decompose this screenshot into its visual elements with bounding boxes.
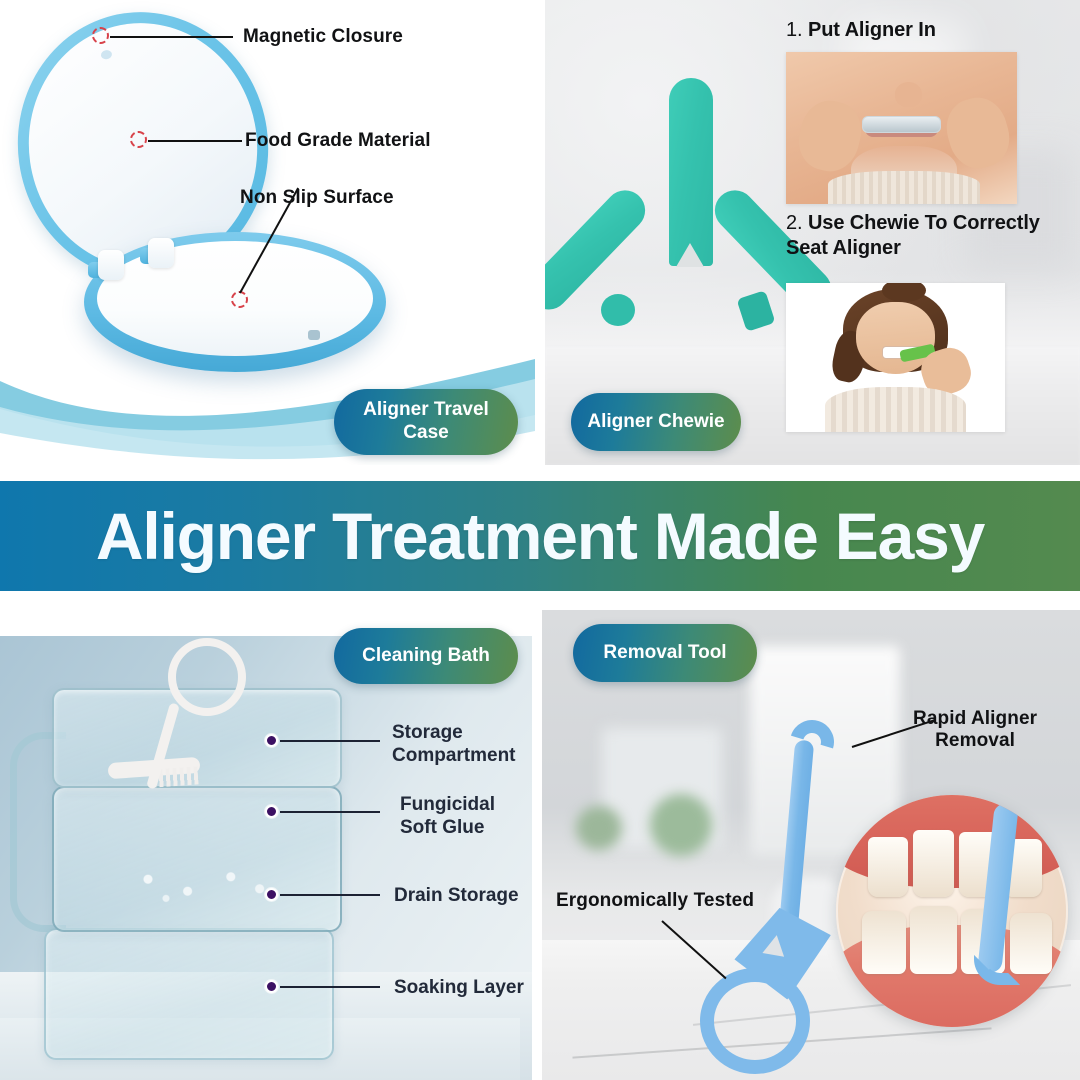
infographic-page: Magnetic Closure Food Grade Material Non… <box>0 0 1080 1080</box>
callout-fungicidal-soft-glue: Fungicidal Soft Glue <box>400 794 495 840</box>
removal-tool-finger-ring <box>700 968 810 1074</box>
photo1-sweater <box>828 171 980 204</box>
tooth-lower-1 <box>862 911 906 974</box>
marker-soaking-layer <box>265 980 278 993</box>
target-marker-non-slip <box>231 291 248 308</box>
callout-fungicidal-line1: Fungicidal <box>400 794 495 815</box>
badge-aligner-travel-case[interactable]: Aligner Travel Case <box>334 389 518 455</box>
badge-aligner-chewie[interactable]: Aligner Chewie <box>571 393 741 451</box>
step-1-text: Put Aligner In <box>808 19 936 41</box>
callout-food-grade-material: Food Grade Material <box>245 130 431 152</box>
callout-drain-storage: Drain Storage <box>394 885 519 908</box>
chewie-knob <box>601 294 635 326</box>
background-plant-right <box>650 794 712 856</box>
hinge-tab-left <box>98 250 124 280</box>
callout-storage-compartment-line1: Storage <box>392 722 463 743</box>
leader-drain-storage <box>280 894 380 896</box>
leader-line-food-grade <box>148 140 242 142</box>
photo-use-chewie <box>786 283 1005 432</box>
leader-fungicidal-soft-glue <box>280 811 380 813</box>
callout-fungicidal-line2: Soft Glue <box>400 817 484 838</box>
callout-storage-compartment-line2: Compartment <box>392 745 516 766</box>
leader-soaking-layer <box>280 986 380 988</box>
callout-soaking-layer: Soaking Layer <box>394 977 524 1000</box>
leader-storage-compartment <box>280 740 380 742</box>
chewie-triangle-hole <box>676 243 704 267</box>
chewie-product-illustration <box>573 78 803 363</box>
hinge-tab-right <box>148 238 174 268</box>
callout-non-slip-surface: Non Slip Surface <box>240 187 394 209</box>
target-marker-magnetic-closure <box>92 27 109 44</box>
step-2-label: 2. Use Chewie To Correctly Seat Aligner <box>786 211 1044 261</box>
photo-put-aligner-in <box>786 52 1017 204</box>
chewie-stem <box>669 78 713 266</box>
tooth-upper-2 <box>913 830 955 897</box>
marker-fungicidal-soft-glue <box>265 805 278 818</box>
chewie-arm-left <box>545 182 653 318</box>
badge-removal-tool[interactable]: Removal Tool <box>573 624 757 682</box>
step-2-text: Use Chewie To Correctly Seat Aligner <box>786 212 1040 259</box>
target-marker-food-grade <box>130 131 147 148</box>
leader-line-magnetic-closure <box>110 36 233 38</box>
callout-rapid-aligner-removal: Rapid Aligner Removal <box>913 708 1037 753</box>
marker-drain-storage <box>265 888 278 901</box>
panel-aligner-travel-case: Magnetic Closure Food Grade Material Non… <box>0 0 535 465</box>
marker-storage-compartment <box>265 734 278 747</box>
background-plant-left <box>576 806 622 850</box>
photo1-aligner <box>862 116 941 133</box>
main-banner: Aligner Treatment Made Easy <box>0 481 1080 591</box>
bath-soaking-layer-box <box>44 928 334 1060</box>
step-1-label: 1. Put Aligner In <box>786 18 936 43</box>
bath-hook-ring <box>168 638 246 716</box>
step-2-number: 2. <box>786 212 802 234</box>
photo2-sweater <box>825 387 965 432</box>
badge-cleaning-bath[interactable]: Cleaning Bath <box>334 628 518 684</box>
step-1-number: 1. <box>786 19 802 41</box>
removal-tool-triangle-hole <box>762 933 787 957</box>
bath-drain-storage-box <box>52 786 342 932</box>
chewie-notch <box>736 290 775 332</box>
tooth-lower-2 <box>910 906 956 973</box>
callout-storage-compartment: Storage Compartment <box>392 722 516 768</box>
callout-rapid-line1: Rapid Aligner <box>913 708 1037 729</box>
photo1-nose <box>895 82 923 106</box>
callout-magnetic-closure: Magnetic Closure <box>243 26 403 48</box>
tooth-upper-1 <box>868 837 907 897</box>
banner-title: Aligner Treatment Made Easy <box>96 498 984 574</box>
case-latch <box>308 330 320 340</box>
bath-drain-texture <box>112 860 292 908</box>
teeth-closeup-magnifier <box>836 795 1068 1027</box>
callout-rapid-line2: Removal <box>935 730 1015 751</box>
callout-ergonomically-tested: Ergonomically Tested <box>556 890 754 912</box>
